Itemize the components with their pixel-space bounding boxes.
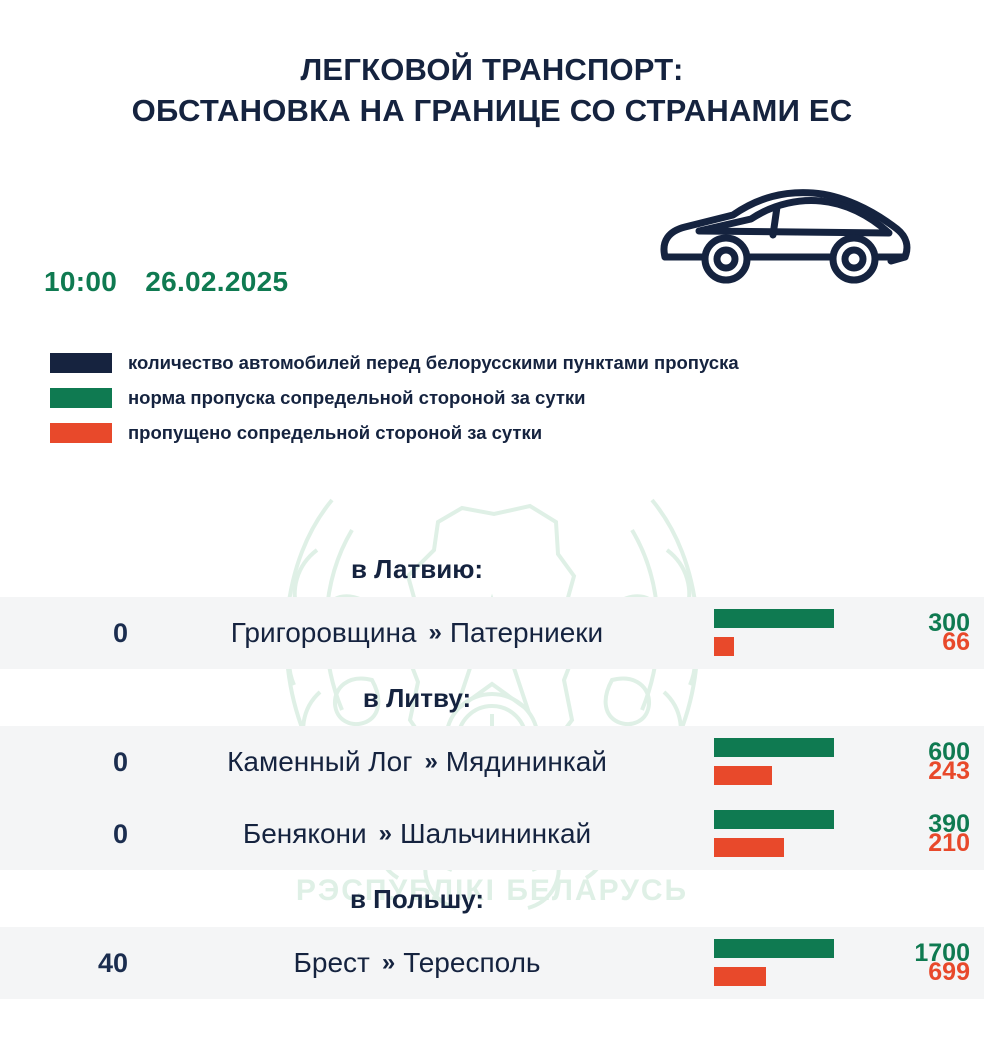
chevron-right-icon: » — [379, 820, 388, 848]
bar-passed — [714, 838, 784, 857]
bars: 300 66 — [714, 604, 984, 662]
chevron-right-icon: » — [424, 748, 433, 776]
bars: 600 243 — [714, 733, 984, 791]
legend-label-norm: норма пропуска сопредельной стороной за … — [128, 387, 586, 409]
timestamp: 10:00 26.02.2025 — [44, 266, 288, 298]
group-title-lithuania: в Литву: — [0, 669, 834, 726]
legend-label-queue: количество автомобилей перед белорусским… — [128, 352, 739, 374]
value-passed: 699 — [928, 958, 970, 987]
chevron-right-icon: » — [382, 949, 391, 977]
value-passed: 243 — [928, 757, 970, 786]
legend-item-queue: количество автомобилей перед белорусским… — [50, 352, 739, 374]
car-icon — [655, 185, 915, 300]
legend-label-passed: пропущено сопредельной стороной за сутки — [128, 422, 542, 444]
legend-item-passed: пропущено сопредельной стороной за сутки — [50, 422, 739, 444]
route-to: Тересполь — [403, 947, 540, 979]
legend: количество автомобилей перед белорусским… — [50, 352, 739, 457]
bar-norm — [714, 810, 834, 829]
table-row: 0 Бенякони » Шальчининкай 390 210 — [0, 798, 984, 870]
page-title-line-2: ОБСТАНОВКА НА ГРАНИЦЕ СО СТРАНАМИ ЕС — [0, 91, 984, 132]
route: Каменный Лог » Мядининкай — [128, 746, 714, 778]
table-row: 0 Григоровщина » Патерниеки 300 66 — [0, 597, 984, 669]
bar-norm — [714, 738, 834, 757]
page-title-line-1: ЛЕГКОВОЙ ТРАНСПОРТ: — [0, 50, 984, 91]
queue-count: 0 — [0, 747, 128, 778]
queue-count: 0 — [0, 819, 128, 850]
bar-passed — [714, 967, 766, 986]
bar-passed — [714, 766, 772, 785]
legend-swatch-queue — [50, 353, 112, 373]
table-row: 40 Брест » Тересполь 1700 699 — [0, 927, 984, 999]
chevron-right-icon: » — [429, 619, 438, 647]
table-row: 0 Каменный Лог » Мядининкай 600 243 — [0, 726, 984, 798]
page-title: ЛЕГКОВОЙ ТРАНСПОРТ: ОБСТАНОВКА НА ГРАНИЦ… — [0, 0, 984, 132]
legend-item-norm: норма пропуска сопредельной стороной за … — [50, 387, 739, 409]
bar-norm — [714, 609, 834, 628]
route: Григоровщина » Патерниеки — [128, 617, 714, 649]
route-from: Григоровщина — [231, 617, 417, 649]
route-to: Патерниеки — [450, 617, 603, 649]
value-passed: 66 — [942, 628, 970, 657]
border-crossings-table: в Латвию: 0 Григоровщина » Патерниеки 30… — [0, 540, 984, 999]
bar-norm — [714, 939, 834, 958]
route-to: Шальчининкай — [400, 818, 591, 850]
bar-passed — [714, 637, 734, 656]
queue-count: 40 — [0, 948, 128, 979]
route: Брест » Тересполь — [128, 947, 714, 979]
legend-swatch-passed — [50, 423, 112, 443]
route-to: Мядининкай — [446, 746, 607, 778]
value-passed: 210 — [928, 829, 970, 858]
route: Бенякони » Шальчининкай — [128, 818, 714, 850]
route-from: Каменный Лог — [227, 746, 412, 778]
queue-count: 0 — [0, 618, 128, 649]
legend-swatch-norm — [50, 388, 112, 408]
timestamp-date-value: 26.02.2025 — [145, 266, 288, 297]
route-from: Бенякони — [243, 818, 367, 850]
bars: 390 210 — [714, 805, 984, 863]
timestamp-time-value: 10:00 — [44, 266, 117, 297]
bars: 1700 699 — [714, 934, 984, 992]
group-title-latvia: в Латвию: — [0, 540, 834, 597]
route-from: Брест — [294, 947, 370, 979]
group-title-poland: в Польшу: — [0, 870, 834, 927]
